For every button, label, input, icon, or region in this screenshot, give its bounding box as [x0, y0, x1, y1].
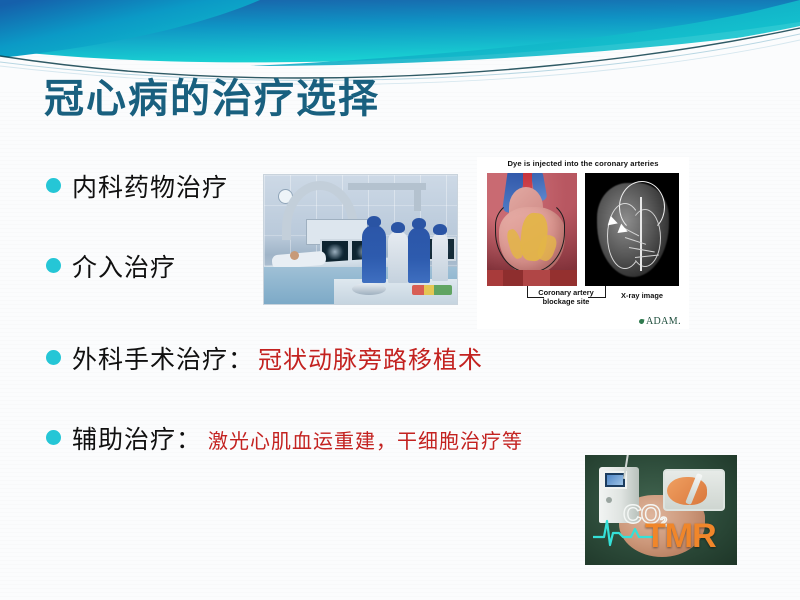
- bullet-dot-icon: [46, 178, 61, 193]
- bullet-main-text: 外科手术治疗：: [72, 340, 254, 376]
- staff-figure: [408, 227, 430, 283]
- list-item[interactable]: 内科药物治疗: [46, 168, 228, 204]
- bullet-highlight-text: 冠状动脉旁路移植术: [258, 340, 483, 375]
- monitor-image: [326, 244, 344, 259]
- bullet-dot-icon: [46, 430, 61, 445]
- list-item[interactable]: 辅助治疗： 激光心肌血运重建，干细胞治疗等: [46, 420, 523, 456]
- co2-tmr-laser-image: CO2 TMR: [585, 455, 737, 565]
- instrument-tray: [352, 283, 386, 295]
- supply-items: [412, 285, 452, 295]
- surgical-cap: [412, 218, 426, 229]
- bullet-dot-icon: [46, 350, 61, 365]
- staff-figure: [432, 233, 448, 281]
- bullet-main-text: 介入治疗: [72, 248, 176, 284]
- bullet-dot-icon: [46, 258, 61, 273]
- adam-logo: ADAM.: [639, 316, 681, 327]
- patient-head: [290, 251, 299, 260]
- slide-title: 冠心病的治疗选择: [44, 78, 380, 120]
- staff-figure: [388, 231, 408, 283]
- presentation-slide: 冠心病的治疗选择 内科药物治疗 介入治疗 外科手术治疗： 冠状动脉旁路移植术 辅…: [0, 0, 800, 600]
- console-knob: [606, 497, 612, 503]
- procedure-inset-panel: [663, 469, 725, 511]
- bullet-main-text: 内科药物治疗: [72, 168, 228, 204]
- list-item[interactable]: 外科手术治疗： 冠状动脉旁路移植术: [46, 340, 483, 376]
- surgical-cap: [367, 216, 381, 227]
- surgical-cap: [433, 224, 447, 235]
- catheter-line: [640, 197, 642, 271]
- ecg-waveform-icon: [593, 515, 653, 549]
- surgical-cap: [391, 222, 405, 233]
- xray-panel: [585, 173, 679, 286]
- staff-figure: [362, 225, 386, 283]
- diagram-label-blockage-site: Coronary artery blockage site: [527, 288, 605, 307]
- heart-illustration-panel: [487, 173, 577, 286]
- diaphragm-tissue: [487, 270, 577, 286]
- diagram-panels: [487, 173, 679, 286]
- console-screen-display: [607, 475, 623, 485]
- list-item[interactable]: 介入治疗: [46, 248, 176, 284]
- cath-lab-photo: [263, 174, 458, 305]
- leaf-icon: [639, 319, 645, 325]
- diagram-label-xray: X-ray image: [609, 291, 675, 300]
- coronary-angiography-diagram: Dye is injected into the coronary arteri…: [477, 157, 689, 329]
- contrast-vessel: [629, 209, 661, 267]
- ceiling-boom-arm: [414, 183, 421, 211]
- bullet-main-text: 辅助治疗：: [72, 420, 202, 456]
- bullet-highlight-text: 激光心肌血运重建，干细胞治疗等: [208, 425, 523, 454]
- diagram-caption: Dye is injected into the coronary arteri…: [477, 159, 689, 168]
- adam-logo-text: ADAM.: [646, 316, 681, 327]
